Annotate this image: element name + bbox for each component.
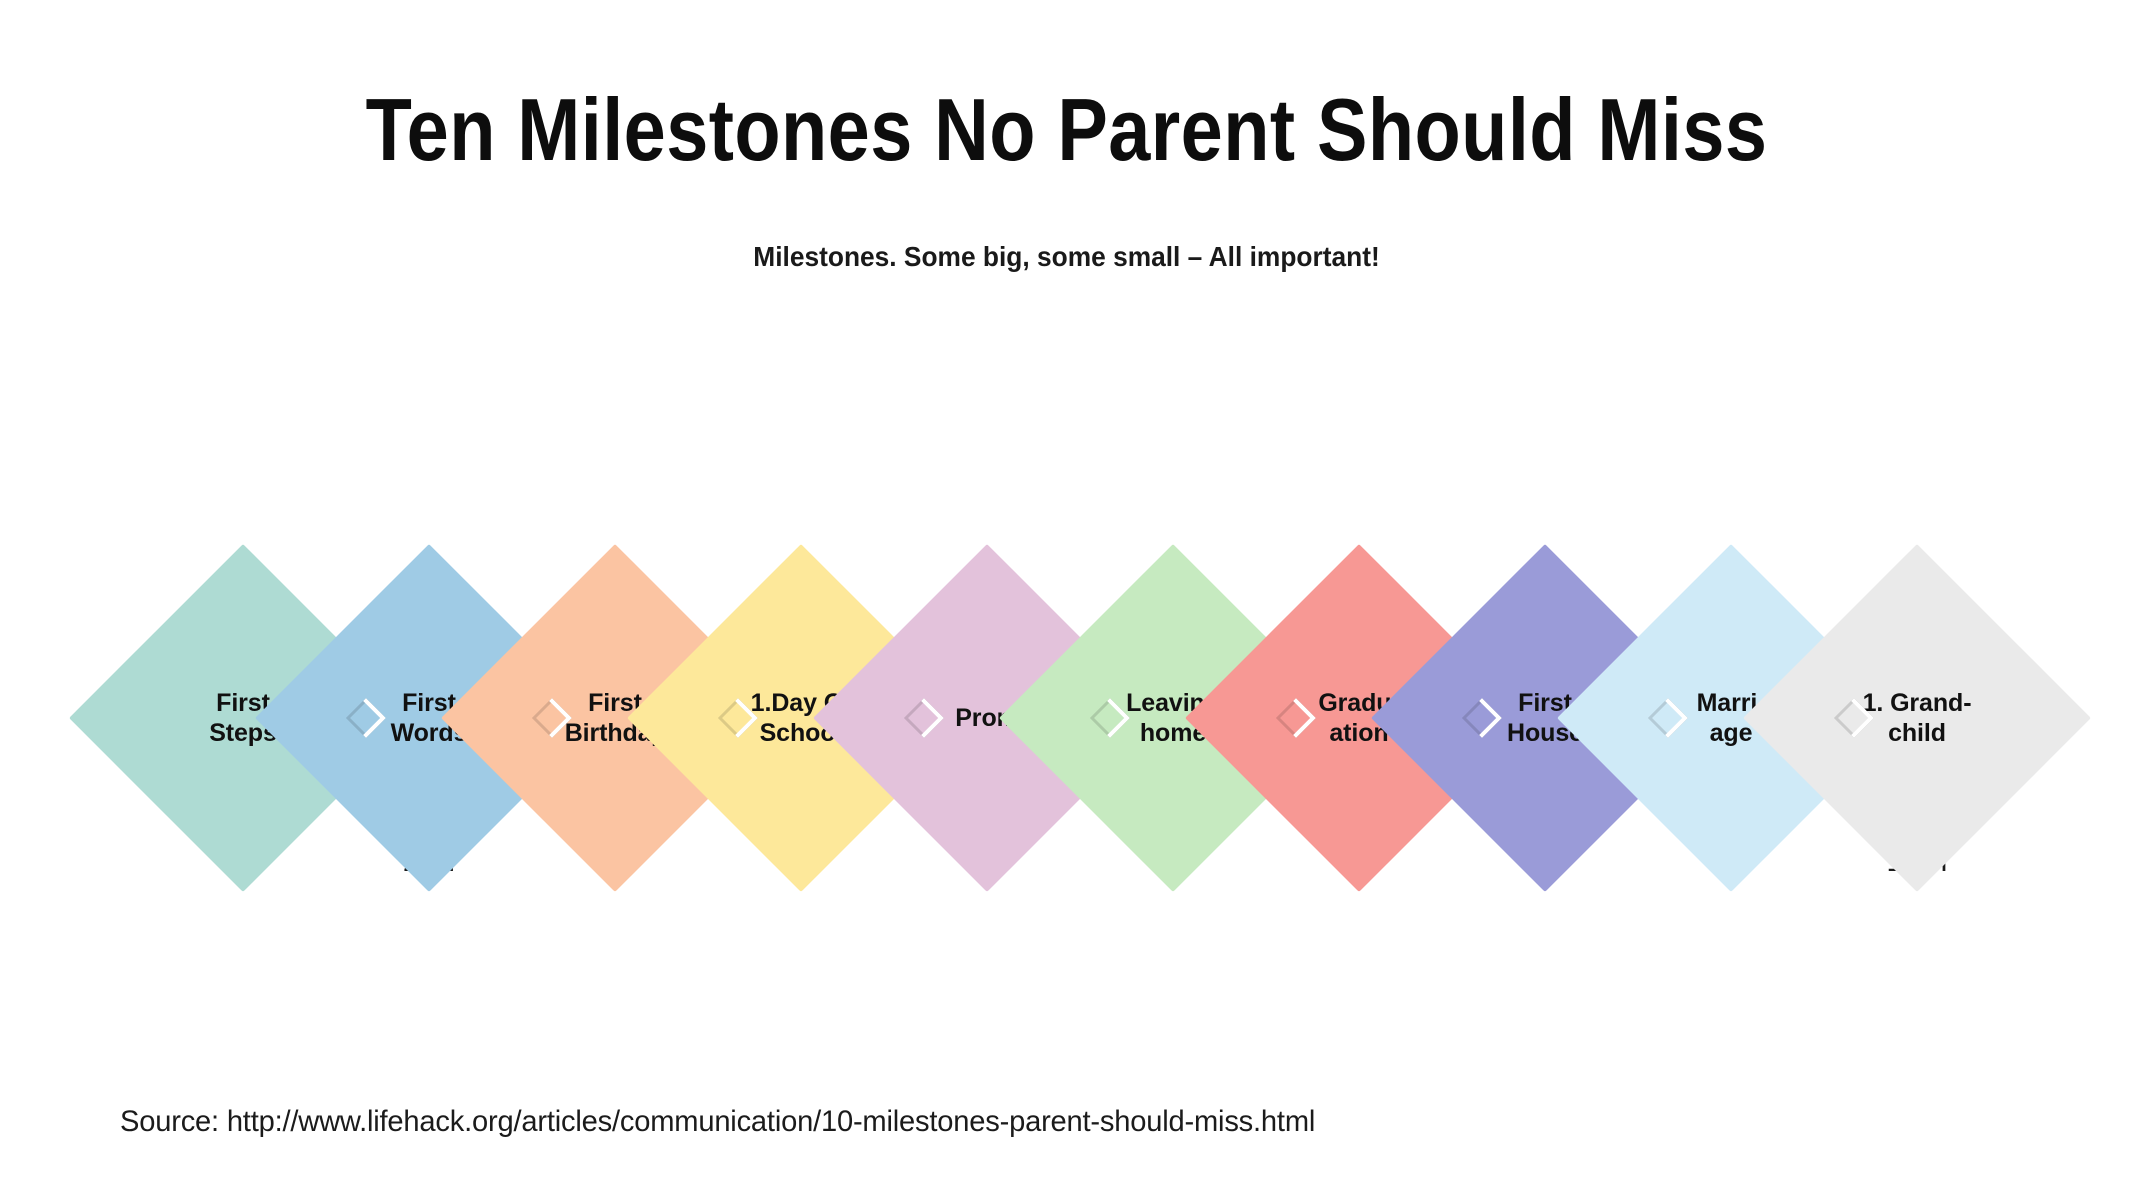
source-citation: Source: http://www.lifehack.org/articles…	[120, 1105, 1315, 1139]
diamond-shape	[1743, 544, 2091, 892]
slide-canvas: Ten Milestones No Parent Should Miss Mil…	[0, 0, 2133, 1200]
milestone-diamond-chain: First Steps1stFirst Words2ndFirst Birthd…	[0, 0, 2133, 1200]
milestone-diamond-10th[interactable]: 1. Grand- child	[1794, 595, 2040, 841]
